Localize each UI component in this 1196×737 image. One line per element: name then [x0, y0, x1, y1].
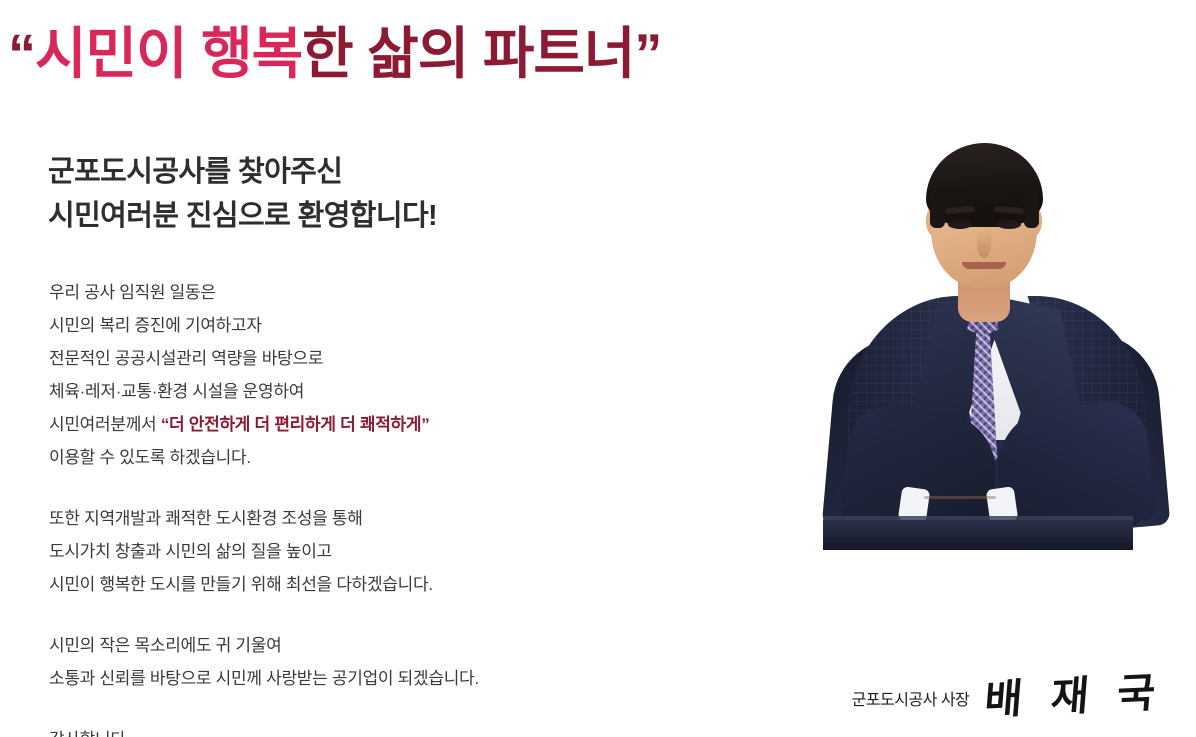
body-paragraph-3: 시민의 작은 목소리에도 귀 기울여 소통과 신뢰를 바탕으로 시민께 사랑받는…: [49, 629, 479, 695]
paragraph-1-line-5-prefix: 시민여러분께서: [49, 415, 161, 434]
signature-block: 군포도시공사 사장 배 재 국: [852, 680, 1160, 721]
headline-close-quote: ”: [634, 22, 661, 85]
welcome-subheading: 군포도시공사를 찾아주신 시민여러분 진심으로 환영합니다!: [48, 150, 437, 238]
subheading-line-2: 시민여러분 진심으로 환영합니다!: [48, 194, 437, 238]
ceo-portrait-photo: [790, 110, 1196, 550]
greeting-body: 우리 공사 임직원 일동은 시민의 복리 증진에 기여하고자 전문적인 공공시설…: [49, 276, 479, 737]
paragraph-1-line-2: 시민의 복리 증진에 기여하고자: [49, 309, 479, 342]
subheading-line-1: 군포도시공사를 찾아주신: [48, 150, 437, 194]
headline-bright-text: 시민이 행복: [35, 22, 302, 85]
mouth: [962, 262, 1006, 269]
paragraph-1-line-1: 우리 공사 임직원 일동은: [49, 276, 479, 309]
signature-title: 군포도시공사 사장: [852, 686, 970, 721]
body-paragraph-1: 우리 공사 임직원 일동은 시민의 복리 증진에 기여하고자 전문적인 공공시설…: [49, 276, 479, 474]
paragraph-3-line-2: 소통과 신뢰를 바탕으로 시민께 사랑받는 공기업이 되겠습니다.: [49, 662, 479, 695]
desk-surface: [823, 520, 1133, 550]
nose: [977, 230, 991, 258]
body-paragraph-2: 또한 지역개발과 쾌적한 도시환경 조성을 통해 도시가치 창출과 시민의 삶의…: [49, 502, 479, 601]
left-sideburn: [930, 188, 945, 228]
left-eye: [948, 220, 972, 229]
paragraph-2-line-1: 또한 지역개발과 쾌적한 도시환경 조성을 통해: [49, 502, 479, 535]
slogan-accent-text: “더 안전하게 더 편리하게 더 쾌적하게”: [161, 415, 430, 434]
page-headline: “시민이 행복한 삶의 파트너”: [8, 22, 661, 86]
signature-name: 배 재 국: [983, 672, 1164, 721]
paragraph-2-line-2: 도시가치 창출과 시민의 삶의 질을 높이고: [49, 535, 479, 568]
paragraph-1-line-6: 이용할 수 있도록 하겠습니다.: [49, 441, 479, 474]
right-sideburn: [1024, 188, 1039, 228]
portrait-canvas: [790, 110, 1196, 550]
right-eye: [997, 220, 1021, 229]
headline-open-quote: “: [8, 22, 35, 85]
headline-dark-text: 한 삶의 파트너: [302, 22, 634, 85]
paragraph-3-line-1: 시민의 작은 목소리에도 귀 기울여: [49, 629, 479, 662]
paragraph-2-line-3: 시민이 행복한 도시를 만들기 위해 최선을 다하겠습니다.: [49, 568, 479, 601]
paragraph-1-line-5: 시민여러분께서 “더 안전하게 더 편리하게 더 쾌적하게”: [49, 408, 479, 441]
greeting-page: “시민이 행복한 삶의 파트너” 군포도시공사를 찾아주신 시민여러분 진심으로…: [0, 0, 1196, 737]
paragraph-1-line-3: 전문적인 공공시설관리 역량을 바탕으로: [49, 342, 479, 375]
paragraph-1-line-4: 체육·레저·교통·환경 시설을 운영하여: [49, 375, 479, 408]
body-paragraph-4: 감사합니다.: [49, 723, 479, 737]
paragraph-4-line-1: 감사합니다.: [49, 723, 479, 737]
